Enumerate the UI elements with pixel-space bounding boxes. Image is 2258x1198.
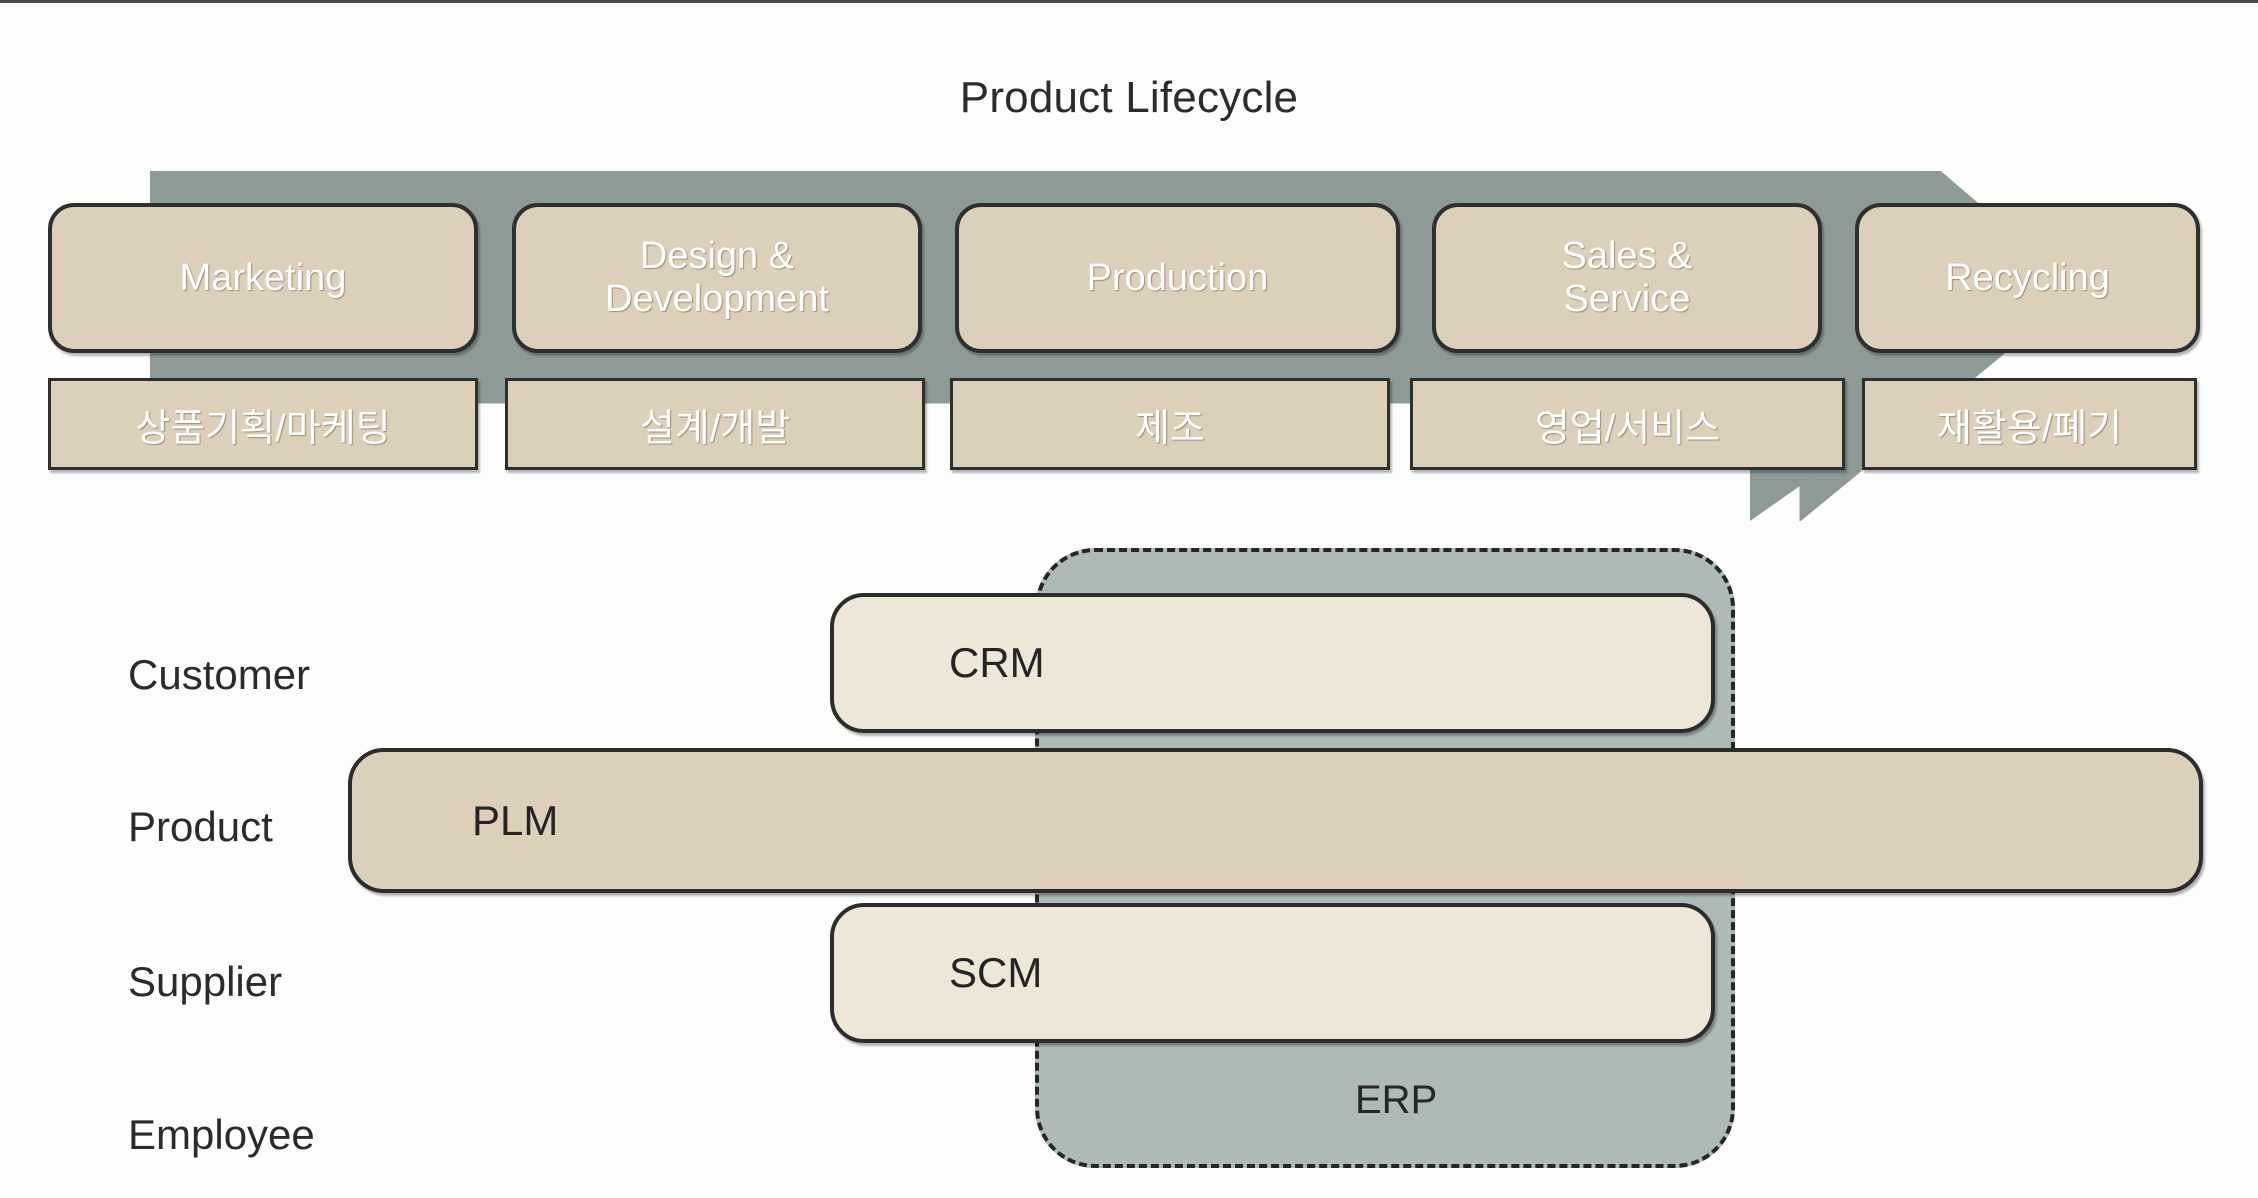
phase-box-sales-service[interactable]: Sales & Service: [1432, 203, 1822, 353]
system-bar-scm[interactable]: SCM: [830, 903, 1715, 1043]
system-bar-plm[interactable]: PLM: [348, 748, 2203, 893]
phase-box-ko-production[interactable]: 제조: [950, 378, 1390, 470]
phase-label-sales-service: Sales & Service: [1562, 235, 1693, 320]
system-label-plm: PLM: [472, 797, 558, 845]
phase-box-design-development[interactable]: Design & Development: [512, 203, 922, 353]
system-bar-crm[interactable]: CRM: [830, 593, 1715, 733]
phase-label-ko-design-development: 설계/개발: [640, 397, 790, 452]
row-label-employee: Employee: [128, 1111, 315, 1159]
phase-box-ko-recycling[interactable]: 재활용/폐기: [1862, 378, 2197, 470]
phase-box-marketing[interactable]: Marketing: [48, 203, 478, 353]
phase-box-ko-sales-service[interactable]: 영업/서비스: [1410, 378, 1845, 470]
row-label-product: Product: [128, 803, 273, 851]
row-label-supplier: Supplier: [128, 958, 282, 1006]
phase-label-marketing: Marketing: [180, 257, 347, 300]
phase-label-production: Production: [1087, 257, 1269, 300]
system-label-crm: CRM: [949, 639, 1045, 687]
phase-label-design-development: Design & Development: [605, 235, 829, 320]
product-lifecycle-diagram: Product Lifecycle Marketing Design & Dev…: [0, 0, 2258, 1198]
phase-label-recycling: Recycling: [1945, 257, 2110, 300]
page-title: Product Lifecycle: [0, 73, 2258, 123]
phase-label-ko-marketing: 상품기획/마케팅: [135, 397, 390, 452]
system-label-scm: SCM: [949, 949, 1042, 997]
phase-box-recycling[interactable]: Recycling: [1855, 203, 2200, 353]
row-label-customer: Customer: [128, 651, 310, 699]
phase-label-ko-production: 제조: [1135, 397, 1205, 452]
phase-box-production[interactable]: Production: [955, 203, 1400, 353]
system-label-erp: ERP: [1355, 1078, 1437, 1123]
phase-box-ko-marketing[interactable]: 상품기획/마케팅: [48, 378, 478, 470]
phase-label-ko-sales-service: 영업/서비스: [1535, 397, 1720, 452]
phase-box-ko-design-development[interactable]: 설계/개발: [505, 378, 925, 470]
phase-label-ko-recycling: 재활용/폐기: [1937, 397, 2122, 452]
